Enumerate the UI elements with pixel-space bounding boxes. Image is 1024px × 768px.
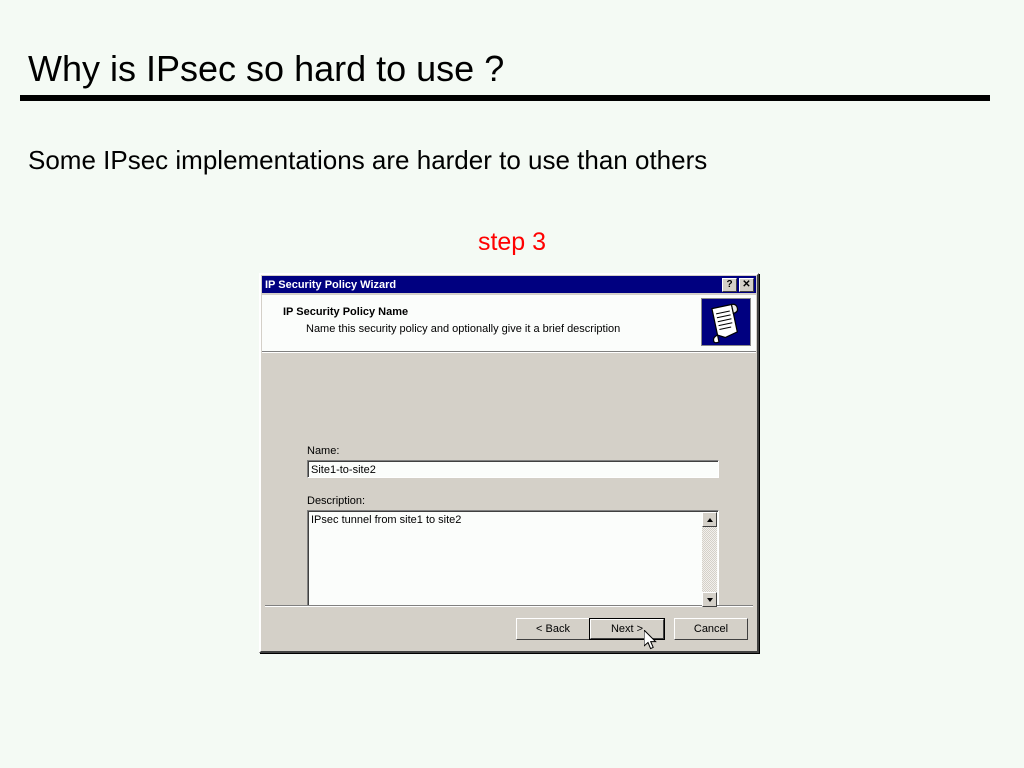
dialog-titlebar[interactable]: IP Security Policy Wizard ? ✕: [262, 276, 756, 293]
policy-scroll-icon: [701, 298, 751, 346]
wizard-header-subtitle: Name this security policy and optionally…: [306, 323, 620, 335]
description-textarea[interactable]: IPsec tunnel from site1 to site2: [307, 510, 719, 609]
next-button[interactable]: Next >: [589, 618, 665, 640]
wizard-header-title: IP Security Policy Name: [283, 306, 408, 318]
description-scrollbar[interactable]: [702, 512, 717, 607]
next-button-label: Next >: [590, 619, 664, 639]
step-caption: step 3: [0, 228, 1024, 257]
dialog-title-text: IP Security Policy Wizard: [265, 279, 720, 291]
title-divider: [20, 95, 990, 101]
name-input-value: Site1-to-site2: [311, 464, 376, 476]
description-textarea-value: IPsec tunnel from site1 to site2: [311, 514, 461, 526]
wizard-body: Name: Site1-to-site2 Description: IPsec …: [262, 352, 756, 607]
name-field-label: Name:: [307, 445, 339, 457]
wizard-header: IP Security Policy Name Name this securi…: [262, 295, 756, 352]
triangle-up-glyph: [707, 518, 713, 522]
ip-security-policy-wizard-dialog: IP Security Policy Wizard ? ✕ IP Securit…: [259, 273, 759, 653]
scroll-down-icon[interactable]: [702, 592, 717, 607]
back-button[interactable]: < Back: [516, 618, 590, 640]
wizard-footer: < Back Next > Cancel: [262, 607, 756, 651]
page-title: Why is IPsec so hard to use ?: [28, 48, 504, 90]
cancel-button[interactable]: Cancel: [674, 618, 748, 640]
help-icon[interactable]: ?: [722, 278, 737, 292]
triangle-down-glyph: [707, 598, 713, 602]
slide-subtitle: Some IPsec implementations are harder to…: [28, 145, 707, 176]
name-input[interactable]: Site1-to-site2: [307, 460, 719, 478]
description-field-label: Description:: [307, 495, 365, 507]
close-icon[interactable]: ✕: [739, 278, 754, 292]
scroll-up-icon[interactable]: [702, 512, 717, 527]
